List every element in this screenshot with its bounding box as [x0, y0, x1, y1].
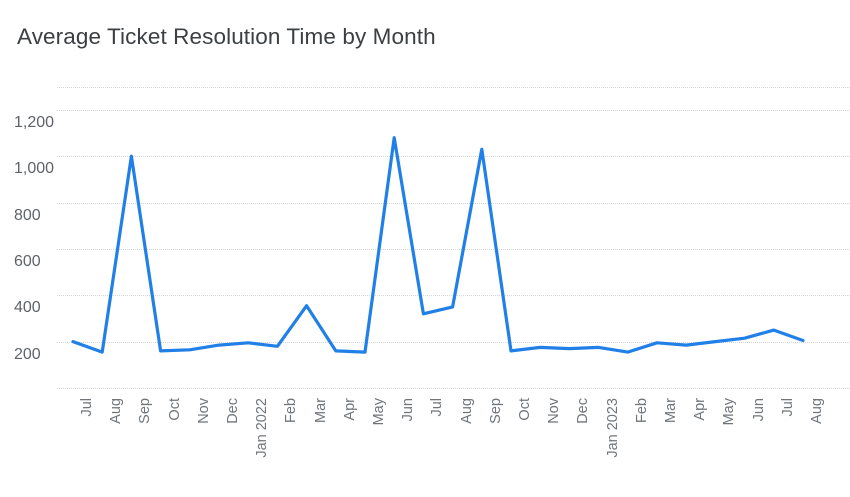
x-axis-tick-label: May: [721, 398, 737, 425]
x-axis-tick-label: Oct: [167, 398, 183, 421]
x-axis-tick-label: Nov: [196, 398, 212, 424]
x-axis-tick-label: Jan 2022: [254, 398, 270, 458]
x-axis-tick-label-text: Jul: [429, 398, 445, 417]
x-axis-tick-label-text: Dec: [225, 398, 241, 424]
x-axis-tick-label: Sep: [137, 398, 153, 424]
x-axis-tick-label-text: May: [371, 398, 387, 425]
x-axis-tick-label: Aug: [108, 398, 124, 424]
line-series: [0, 0, 850, 400]
chart-container: Average Ticket Resolution Time by Month …: [0, 0, 850, 497]
x-axis-tick-label: Apr: [692, 398, 708, 421]
x-axis-tick-label-text: Aug: [459, 398, 475, 424]
x-axis-tick-label: Jun: [400, 398, 416, 421]
x-axis-tick-label: Sep: [488, 398, 504, 424]
x-axis-tick-label: Dec: [575, 398, 591, 424]
x-axis-tick-label-text: Feb: [283, 398, 299, 423]
x-axis-tick-label: Oct: [517, 398, 533, 421]
x-axis-tick-label: Aug: [809, 398, 825, 424]
x-axis-tick-label-text: Jan 2023: [605, 398, 621, 458]
x-axis-tick-label-text: Feb: [634, 398, 650, 423]
x-axis-tick-label: Jul: [79, 398, 95, 417]
x-axis-tick-label-text: Aug: [809, 398, 825, 424]
x-axis-tick-label: Jul: [429, 398, 445, 417]
x-axis-tick-label-text: Jun: [751, 398, 767, 421]
x-axis-tick-label-text: Oct: [517, 398, 533, 421]
x-axis-tick-label: Jun: [751, 398, 767, 421]
x-axis-tick-label: May: [371, 398, 387, 425]
x-axis-tick-label-text: Aug: [108, 398, 124, 424]
x-axis-tick-label: Mar: [663, 398, 679, 423]
x-axis-tick-label-text: Jul: [780, 398, 796, 417]
x-axis-tick-label-text: Dec: [575, 398, 591, 424]
x-axis-tick-label-text: Mar: [663, 398, 679, 423]
x-axis-tick-label-text: May: [721, 398, 737, 425]
x-axis-tick-label: Jul: [780, 398, 796, 417]
x-axis-tick-label: Jan 2023: [605, 398, 621, 458]
x-axis-tick-label: Dec: [225, 398, 241, 424]
x-axis-tick-label-text: Apr: [342, 398, 358, 421]
x-axis-tick-label: Feb: [634, 398, 650, 423]
x-axis-tick-label-text: Nov: [546, 398, 562, 424]
x-axis-tick-label-text: Jul: [79, 398, 95, 417]
x-axis-tick-label-text: Mar: [313, 398, 329, 423]
x-axis-tick-label-text: Apr: [692, 398, 708, 421]
x-axis-tick-label-text: Nov: [196, 398, 212, 424]
x-axis-tick-label-text: Jan 2022: [254, 398, 270, 458]
x-axis-tick-label: Aug: [459, 398, 475, 424]
x-axis-tick-label: Mar: [313, 398, 329, 423]
series-polyline: [73, 138, 803, 352]
plot-area: 1,2001,000800600400200: [0, 0, 850, 400]
x-axis-tick-label-text: Sep: [488, 398, 504, 424]
x-axis-tick-label-text: Oct: [167, 398, 183, 421]
x-axis-tick-label-text: Jun: [400, 398, 416, 421]
x-axis-tick-label: Apr: [342, 398, 358, 421]
x-axis-tick-label-text: Sep: [137, 398, 153, 424]
x-axis-tick-label: Feb: [283, 398, 299, 423]
x-axis-tick-label: Nov: [546, 398, 562, 424]
